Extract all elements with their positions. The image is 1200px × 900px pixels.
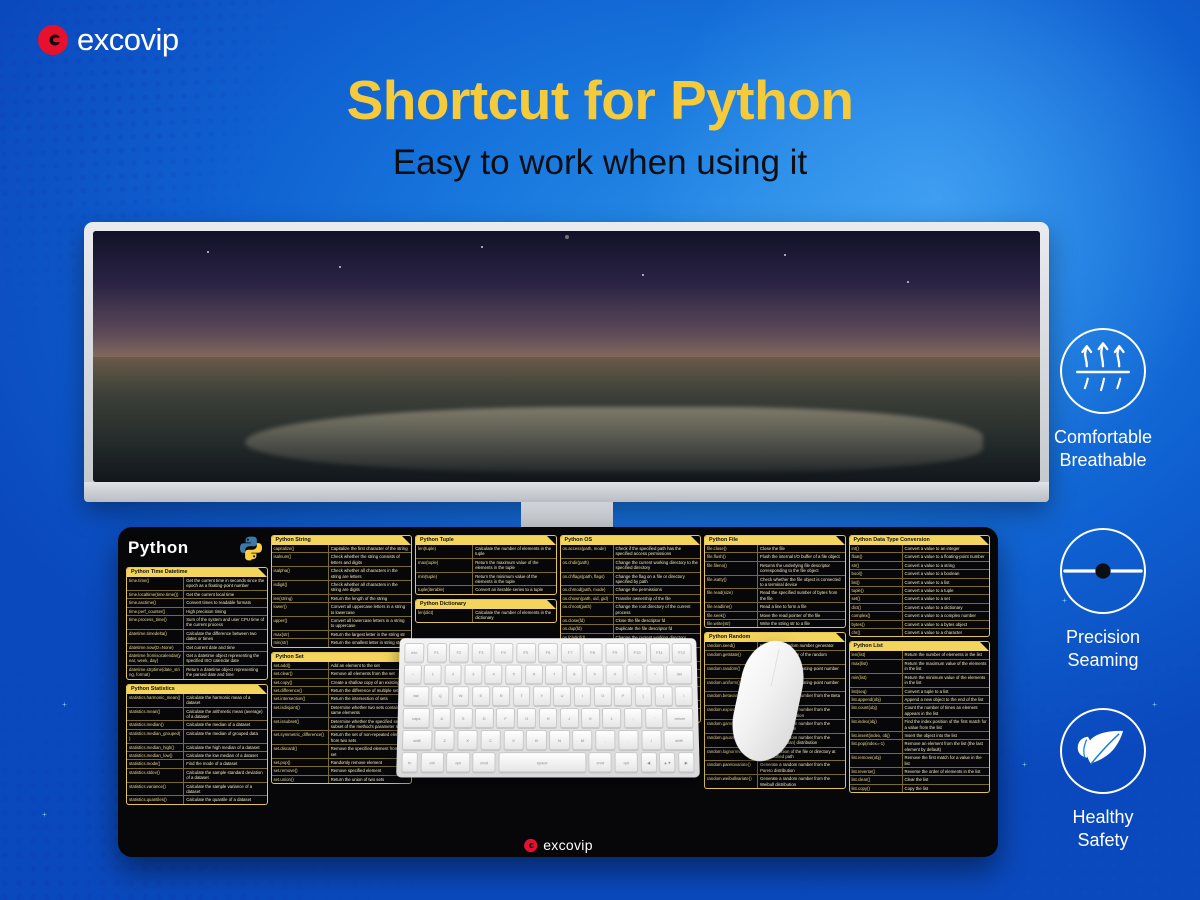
cheatsheet-row: statistics.stdev()Calculate the sample s… — [127, 768, 267, 782]
cheatsheet-row: max(list)Return the maximum value of the… — [850, 659, 990, 673]
cheatsheet-row: statistics.median()Calculate the median … — [127, 720, 267, 728]
cheatsheet-description: Generate a random number from the Weibul… — [758, 775, 844, 788]
cheatsheet-description: Convert an iterable series to a tuple — [473, 586, 555, 593]
cheatsheet-description: Append a new object to the end of the li… — [903, 696, 989, 703]
cheatsheet-row: dict()Convert a value to a dictionary — [850, 603, 990, 611]
keyboard-key[interactable]: F7 — [560, 643, 580, 662]
cheatsheet-row: isalpha()Check whether all characters in… — [272, 566, 412, 580]
keyboard-key[interactable]: . — [618, 730, 639, 750]
cheatsheet-row: set.difference()Return the difference of… — [272, 686, 412, 694]
cheatsheet-row: list()Convert a value to a list — [850, 578, 990, 586]
cheatsheet-row: time.perf_counter()High precision timing — [127, 607, 267, 615]
cheatsheet-description: Convert all lowercase letters in a strin… — [329, 617, 411, 630]
cheatsheet-row: statistics.median_low()Calculate the low… — [127, 751, 267, 759]
cheatsheet-row: file.close()Close the file — [705, 545, 845, 552]
cheatsheet-row: set.remove()Remove specified element — [272, 766, 412, 774]
cheatsheet-row: set.discard()Remove the specified elemen… — [272, 744, 412, 758]
mousepad-footer-logo: excovip — [523, 837, 593, 853]
feature-comfortable-breathable: Comfortable Breathable — [1018, 328, 1188, 472]
cheatsheet-description: Return the number of elements in the lis… — [903, 651, 989, 658]
keyboard-key[interactable]: F12 — [672, 643, 692, 662]
keyboard-key[interactable]: F2 — [449, 643, 469, 662]
keyboard-key[interactable]: caps — [402, 708, 430, 728]
cheatsheet-row: os.close(fd)Close the file descriptor fd — [561, 616, 701, 624]
cheatsheet-row: set()Convert a value to a set — [850, 594, 990, 602]
keyboard[interactable]: escF1F2F3F4F5F6F7F8F9F10F11F12~123456789… — [396, 638, 700, 777]
cheatsheet-row: min(list)Return the minimum value of the… — [850, 673, 990, 687]
keyboard-key[interactable]: 8 — [565, 665, 583, 684]
keyboard-key[interactable]: space — [498, 753, 586, 773]
keyboard-key[interactable]: 3 — [464, 665, 482, 684]
cheatsheet-description: Remove an element from the list (the las… — [903, 740, 989, 753]
cheatsheet-description: Duplicate the file descriptor fd — [614, 625, 700, 632]
keyboard-key[interactable]: opt — [446, 753, 470, 773]
keyboard-key[interactable]: ctrl — [420, 753, 444, 773]
keyboard-key[interactable]: D — [475, 708, 494, 728]
cheatsheet-row: os.chroot(path)Change the root directory… — [561, 602, 701, 616]
cheatsheet-description: Calculate the difference between two dat… — [184, 630, 266, 643]
keyboard-key[interactable]: B — [526, 730, 547, 750]
cheatsheet-function: statistics.variance() — [127, 783, 184, 796]
cheatsheet-function: datetime.timedelta() — [127, 630, 184, 643]
cheatsheet-row: time.asctime()Convert times to readable … — [127, 598, 267, 606]
cheatsheet-row: os.dup(fd)Duplicate the file descriptor … — [561, 624, 701, 632]
cheatsheet-column-1: Python Python Time Datetime time.time()G… — [126, 535, 268, 851]
cheatsheet-description: Find the index position of the first mat… — [903, 718, 989, 731]
cheatsheet-row: datetime.timedelta()Calculate the differ… — [127, 629, 267, 643]
brand-logo: excovip — [36, 22, 179, 58]
cheatsheet-description: Get a datetime object representing the s… — [184, 652, 266, 665]
monitor-image — [84, 222, 1049, 502]
feature-label: Healthy Safety — [1018, 806, 1188, 852]
cheatsheet-function: list.index(obj) — [850, 718, 903, 731]
cheatsheet-function: list.copy() — [850, 785, 903, 792]
section-python-set: Python Set set.add()Add an element to th… — [271, 652, 413, 785]
keyboard-key[interactable]: = — [646, 665, 664, 684]
cheatsheet-row: isdigit()Check whether all characters in… — [272, 580, 412, 594]
cheatsheet-row: os.chmod(path, mode)Change the permissio… — [561, 585, 701, 593]
cheatsheet-description: Generate a random number from the Pareto… — [758, 761, 844, 774]
section-python-list: Python List len(list)Return the number o… — [849, 641, 991, 793]
keyboard-key[interactable]: H — [539, 708, 558, 728]
cheatsheet-row: set.intersection()Return the intersectio… — [272, 694, 412, 702]
cheatsheet-description: Find the mode of a dataset — [184, 760, 266, 767]
section-python-string: Python String capitalize()Capitalize the… — [271, 535, 413, 648]
cheatsheet-function: time.time() — [127, 577, 184, 590]
keyboard-key[interactable]: 7 — [545, 665, 563, 684]
cheatsheet-description: Convert a value to a tuple — [903, 587, 989, 594]
section-rows: len(dict)Calculate the number of element… — [416, 609, 556, 622]
feature-label: Precision Seaming — [1018, 626, 1188, 672]
excovip-circle-mark-icon — [523, 838, 538, 853]
keyboard-key[interactable]: ' — [645, 708, 664, 728]
cheatsheet-row: capitalize()Capitalize the first charact… — [272, 545, 412, 552]
cheatsheet-row: statistics.mean()Calculate the arithmeti… — [127, 707, 267, 721]
cheatsheet-row: time.process_time()Sum of the system and… — [127, 615, 267, 629]
cheatsheet-description: Reverse the order of elements in the lis… — [903, 768, 989, 775]
cheatsheet-function: min(str) — [272, 639, 329, 646]
cheatsheet-row: set.copy()Create a shallow copy of an ex… — [272, 678, 412, 686]
cheatsheet-description: Calculate the quantile of a dataset — [184, 796, 266, 803]
page-subtitle: Easy to work when using it — [0, 143, 1200, 183]
cheatsheet-function: statistics.median_grouped() — [127, 730, 184, 743]
cheatsheet-row: lower()Convert all uppercase letters in … — [272, 602, 412, 616]
cheatsheet-function: len(dict) — [416, 609, 473, 622]
keyboard-key[interactable]: ◀ — [640, 753, 657, 773]
cheatsheet-description: Count the number of times an element app… — [903, 704, 989, 717]
cheatsheet-row: list(seq)Convert a tuple to a list — [850, 687, 990, 695]
cheatsheet-function: list.pop(index=-1) — [850, 740, 903, 753]
section-rows: set.add()Add an element to the setset.cl… — [272, 662, 412, 784]
cheatsheet-function: statistics.mean() — [127, 708, 184, 721]
section-rows: file.close()Close the filefile.flush()Fl… — [705, 545, 845, 627]
webcam-icon — [565, 235, 569, 239]
monitor-bezel — [84, 222, 1049, 502]
cheatsheet-description: Convert a value to a character — [903, 629, 989, 636]
mousepad-title-row: Python — [126, 535, 268, 563]
keyboard-key[interactable]: F1 — [426, 643, 446, 662]
cheatsheet-row: os.chdir(path)Change the current working… — [561, 558, 701, 572]
keyboard-key[interactable]: F8 — [583, 643, 603, 662]
keyboard-key[interactable]: G — [517, 708, 536, 728]
cheatsheet-function: random.paretovariate() — [705, 761, 758, 774]
cheatsheet-description: Check if the specified path has the spec… — [614, 545, 700, 558]
cheatsheet-description: Convert a value to a complex number — [903, 612, 989, 619]
keyboard-key[interactable]: cmd — [472, 753, 496, 773]
cheatsheet-function: set.difference() — [272, 687, 329, 694]
cheatsheet-row: random.paretovariate()Generate a random … — [705, 760, 845, 774]
cheatsheet-row: list.count(obj)Count the number of times… — [850, 703, 990, 717]
cheatsheet-row: file.flush()Flush the internal I/O buffe… — [705, 552, 845, 560]
keyboard-key[interactable]: T — [513, 686, 531, 705]
cheatsheet-description: Calculate the low median of a dataset — [184, 752, 266, 759]
section-title: Python String — [272, 536, 412, 545]
cheatsheet-function: min(tuple) — [416, 573, 473, 586]
cheatsheet-description: Return a datetime object representing th… — [184, 666, 266, 679]
cheatsheet-description: Calculate the median of a dataset — [184, 721, 266, 728]
cheatsheet-function: tuple() — [850, 587, 903, 594]
cheatsheet-row: bool()Convert a value to a boolean — [850, 569, 990, 577]
cheatsheet-description: Convert a value to a list — [903, 579, 989, 586]
cheatsheet-description: Calculate the median of grouped data — [184, 730, 266, 743]
keyboard-key[interactable]: K — [581, 708, 600, 728]
keyboard-key[interactable]: ] — [654, 686, 672, 705]
section-python-dictionary: Python Dictionary len(dict)Calculate the… — [415, 599, 557, 623]
cheatsheet-row: list.clear()Clear the list — [850, 775, 990, 783]
cheatsheet-function: os.chroot(path) — [561, 603, 614, 616]
cheatsheet-row: max(tuple)Return the maximum value of th… — [416, 558, 556, 572]
cheatsheet-function: statistics.stdev() — [127, 769, 184, 782]
cheatsheet-description: Check whether all characters in the stri… — [329, 581, 411, 594]
cheatsheet-row: isalnum()Check whether the string consis… — [272, 552, 412, 566]
cheatsheet-row: file.isatty()Check whether the file obje… — [705, 575, 845, 589]
keyboard-key[interactable]: F — [496, 708, 515, 728]
cheatsheet-row: set.isdisjoint()Determine whether two se… — [272, 703, 412, 717]
leaf-icon — [1060, 708, 1146, 794]
keyboard-key[interactable]: esc — [404, 643, 424, 662]
keyboard-key[interactable]: - — [626, 665, 644, 684]
keyboard-key[interactable]: J — [560, 708, 579, 728]
cheatsheet-description: Get the current time in seconds since th… — [184, 577, 266, 590]
cheatsheet-row: list.pop(index=-1)Remove an element from… — [850, 739, 990, 753]
keyboard-row: capsASDFGHJKL;'return — [402, 708, 693, 728]
cheatsheet-function: list.remove(obj) — [850, 754, 903, 767]
cheatsheet-function: os.chdir(path) — [561, 559, 614, 572]
keyboard-key[interactable]: 0 — [606, 665, 624, 684]
cheatsheet-description: Return the maximum value of the elements… — [473, 559, 555, 572]
cheatsheet-description: Copy the list — [903, 785, 989, 792]
section-title: Python Data Type Conversion — [850, 536, 990, 545]
cheatsheet-function: complex() — [850, 612, 903, 619]
section-title: Python File — [705, 536, 845, 545]
keyboard-key[interactable]: O — [594, 686, 612, 705]
cheatsheet-function: statistics.mode() — [127, 760, 184, 767]
cheatsheet-function: list() — [850, 579, 903, 586]
keyboard-key[interactable]: \ — [675, 686, 693, 705]
cheatsheet-description: Transfer ownership of the file — [614, 595, 700, 602]
keyboard-key[interactable]: tab — [403, 686, 429, 705]
keyboard-key[interactable]: F3 — [471, 643, 491, 662]
cheatsheet-row: set.symmetric_difference()Return the set… — [272, 730, 412, 744]
cheatsheet-row: file.write(str)Write the string str to a… — [705, 619, 845, 627]
cheatsheet-description: Change the root directory of the current… — [614, 603, 700, 616]
cheatsheet-description: Return the largest letter in the string … — [329, 631, 411, 638]
cheatsheet-row: datetime.fromisocalendar(year, week, day… — [127, 651, 267, 665]
keyboard-key[interactable]: 9 — [586, 665, 604, 684]
cheatsheet-description: Close the file descriptor fd — [614, 617, 700, 624]
cheatsheet-function: bytes() — [850, 621, 903, 628]
section-rows: capitalize()Capitalize the first charact… — [272, 545, 412, 647]
cheatsheet-row: chr()Convert a value to a character — [850, 628, 990, 636]
cheatsheet-row: file.readline()Read a line to form a fil… — [705, 602, 845, 610]
cheatsheet-function: max(tuple) — [416, 559, 473, 572]
cheatsheet-row: list.remove(obj)Remove the first match f… — [850, 753, 990, 767]
cheatsheet-description: Calculate the sample standard deviation … — [184, 769, 266, 782]
keyboard-key[interactable]: F9 — [605, 643, 625, 662]
cheatsheet-description: Change the flag on a file or directory s… — [614, 573, 700, 586]
keyboard-key[interactable]: S — [453, 708, 472, 728]
cheatsheet-description: Convert a value to a set — [903, 595, 989, 602]
monitor-screen — [93, 231, 1040, 482]
keyboard-key[interactable]: R — [492, 686, 510, 705]
cheatsheet-row: os.chflags(path, flags)Change the flag o… — [561, 572, 701, 586]
keyboard-key[interactable]: Y — [533, 686, 551, 705]
cheatsheet-function: datetime.strptime(date_string, format) — [127, 666, 184, 679]
section-title: Python OS — [561, 536, 701, 545]
cheatsheet-row: set.union()Return the union of two sets — [272, 775, 412, 783]
cheatsheet-function: statistics.median_high() — [127, 744, 184, 751]
cheatsheet-description: Calculate the harmonic mean of a dataset — [184, 694, 266, 707]
keyboard-key[interactable]: M — [572, 730, 593, 750]
keyboard-key[interactable]: cmd — [588, 753, 612, 773]
cheatsheet-row: len(string)Return the length of the stri… — [272, 594, 412, 602]
keyboard-key[interactable]: F5 — [516, 643, 536, 662]
keyboard-key[interactable]: [ — [634, 686, 652, 705]
cheatsheet-row: datetime.now(tz=None)Get current date an… — [127, 643, 267, 651]
cheatsheet-description: Capitalize the first character of the st… — [329, 545, 411, 552]
cheatsheet-function: tuple(iterable) — [416, 586, 473, 593]
cheatsheet-description: Get current date and time — [184, 644, 266, 651]
cheatsheet-description: Flush the internal I/O buffer of a file … — [758, 553, 844, 560]
cheatsheet-row: str()Convert a value to a string — [850, 561, 990, 569]
keyboard-key[interactable]: I — [573, 686, 591, 705]
cheatsheet-function: upper() — [272, 617, 329, 630]
keyboard-key[interactable]: F10 — [627, 643, 647, 662]
keyboard-key[interactable]: return — [666, 708, 694, 728]
cheatsheet-description: Calculate the sample variance of a datas… — [184, 783, 266, 796]
keyboard-key[interactable]: F4 — [493, 643, 513, 662]
section-python-tuple: Python Tuple len(tuple)Calculate the num… — [415, 535, 557, 595]
monitor-chin — [84, 482, 1049, 502]
keyboard-key[interactable]: ▲▼ — [659, 753, 676, 773]
cheatsheet-function: file.fileno() — [705, 562, 758, 575]
cheatsheet-function: len(string) — [272, 595, 329, 602]
cheatsheet-function: os.access(path, mode) — [561, 545, 614, 558]
cheatsheet-row: file.read(size)Read the specified number… — [705, 588, 845, 602]
keyboard-key[interactable]: del — [666, 665, 692, 684]
keyboard-key[interactable]: 2 — [444, 665, 462, 684]
cheatsheet-description: Read a line to form a file — [758, 603, 844, 610]
keyboard-key[interactable]: Z — [434, 730, 455, 750]
cheatsheet-function: statistics.median() — [127, 721, 184, 728]
cheatsheet-function: time.localtime(time.time()) — [127, 591, 184, 598]
cheatsheet-function: set.discard() — [272, 745, 329, 758]
cheatsheet-description: Calculate the number of elements in the … — [473, 609, 555, 622]
keyboard-key[interactable]: ; — [624, 708, 643, 728]
cheatsheet-function: os.chflags(path, flags) — [561, 573, 614, 586]
cheatsheet-function: set.isdisjoint() — [272, 704, 329, 717]
cheatsheet-row: min(str)Return the smallest letter in st… — [272, 638, 412, 646]
cheatsheet-function: list(seq) — [850, 688, 903, 695]
cheatsheet-row: bytes()Convert a value to a bytes object — [850, 620, 990, 628]
keyboard-key[interactable]: F11 — [649, 643, 669, 662]
cheatsheet-description: Check whether the string consists of let… — [329, 553, 411, 566]
cheatsheet-function: file.readline() — [705, 603, 758, 610]
cheatsheet-function: list.count(obj) — [850, 704, 903, 717]
cheatsheet-function: random.seed() — [705, 642, 758, 649]
cheatsheet-row: complex()Convert a value to a complex nu… — [850, 611, 990, 619]
cheatsheet-function: time.process_time() — [127, 616, 184, 629]
cheatsheet-function: set.union() — [272, 776, 329, 783]
cheatsheet-function: list.reverse() — [850, 768, 903, 775]
cheatsheet-function: set.clear() — [272, 670, 329, 677]
keyboard-key[interactable]: Q — [431, 686, 449, 705]
keyboard-key[interactable]: V — [503, 730, 524, 750]
cheatsheet-function: set.copy() — [272, 679, 329, 686]
cheatsheet-row: len(tuple)Calculate the number of elemen… — [416, 545, 556, 558]
cheatsheet-function: len(tuple) — [416, 545, 473, 558]
keyboard-key[interactable]: 1 — [424, 665, 442, 684]
feature-label: Comfortable Breathable — [1018, 426, 1188, 472]
cheatsheet-description: Return the maximum value of the elements… — [903, 660, 989, 673]
breathable-arrows-icon — [1060, 328, 1146, 414]
feature-precision-seaming: Precision Seaming — [1018, 528, 1188, 672]
keyboard-key[interactable]: ~ — [404, 665, 422, 684]
cheatsheet-row: set.issubset()Determine whether the spec… — [272, 717, 412, 731]
cheatsheet-function: time.asctime() — [127, 599, 184, 606]
keyboard-key[interactable]: , — [595, 730, 616, 750]
keyboard-key[interactable]: / — [641, 730, 662, 750]
cheatsheet-description: Convert all uppercase letters in a strin… — [329, 603, 411, 616]
cheatsheet-row: list.index(obj)Find the index position o… — [850, 717, 990, 731]
cheatsheet-description: Convert a value to a boolean — [903, 570, 989, 577]
keyboard-key[interactable]: E — [472, 686, 490, 705]
cheatsheet-description: High precision timing — [184, 608, 266, 615]
keyboard-key[interactable]: fn — [401, 753, 418, 773]
cheatsheet-description: Remove the first match for a value in th… — [903, 754, 989, 767]
cheatsheet-function: list.insert(index, obj) — [850, 732, 903, 739]
feature-label-line1: Precision — [1066, 627, 1140, 647]
cheatsheet-function: set.add() — [272, 662, 329, 669]
feature-label-line2: Breathable — [1059, 450, 1146, 470]
cheatsheet-row: len(dict)Calculate the number of element… — [416, 609, 556, 622]
section-python-file: Python File file.close()Close the filefi… — [704, 535, 846, 628]
cheatsheet-row: list.copy()Copy the list — [850, 784, 990, 792]
cheatsheet-description: Insert the object into the list — [903, 732, 989, 739]
brand-name: excovip — [77, 22, 179, 58]
keyboard-key[interactable]: U — [553, 686, 571, 705]
cheatsheet-row: tuple(iterable)Convert an iterable serie… — [416, 585, 556, 593]
keyboard-key[interactable]: 6 — [525, 665, 543, 684]
cheatsheet-function: str() — [850, 562, 903, 569]
cheatsheet-description: Change the current working directory to … — [614, 559, 700, 572]
cheatsheet-function: set() — [850, 595, 903, 602]
cheatsheet-row: upper()Convert all lowercase letters in … — [272, 616, 412, 630]
keyboard-key[interactable]: A — [432, 708, 451, 728]
cheatsheet-row: float()Convert a value to a floating-poi… — [850, 552, 990, 560]
cheatsheet-function: os.chown(path, uid, gid) — [561, 595, 614, 602]
keyboard-key[interactable]: shift — [664, 730, 694, 750]
cheatsheet-description: Check whether all characters in the stri… — [329, 567, 411, 580]
mousepad-brand-name: excovip — [543, 837, 593, 853]
keyboard-key[interactable]: P — [614, 686, 632, 705]
cheatsheet-description: Write the string str to a file — [758, 620, 844, 627]
cheatsheet-row: statistics.variance()Calculate the sampl… — [127, 782, 267, 796]
cheatsheet-function: random.weibullvariate() — [705, 775, 758, 788]
cheatsheet-function: set.pop() — [272, 759, 329, 766]
cheatsheet-row: random.weibullvariate()Generate a random… — [705, 774, 845, 788]
cheatsheet-row: file.fileno()Returns the underlying file… — [705, 561, 845, 575]
cheatsheet-row: statistics.harmonic_mean()Calculate the … — [127, 694, 267, 707]
screen-wallpaper-water — [245, 407, 984, 472]
cheatsheet-function: capitalize() — [272, 545, 329, 552]
keyboard-key[interactable]: X — [457, 730, 478, 750]
section-rows: len(list)Return the number of elements i… — [850, 651, 990, 792]
keyboard-key[interactable]: C — [480, 730, 501, 750]
keyboard-key[interactable]: ▶ — [678, 753, 695, 773]
keyboard-key[interactable]: F6 — [538, 643, 558, 662]
cheatsheet-row: time.time()Get the current time in secon… — [127, 577, 267, 590]
cheatsheet-function: os.dup(fd) — [561, 625, 614, 632]
cheatsheet-function: os.chmod(path, mode) — [561, 586, 614, 593]
keyboard-key[interactable]: opt — [614, 753, 638, 773]
keyboard-key[interactable]: 4 — [485, 665, 503, 684]
keyboard-key[interactable]: shift — [402, 730, 432, 750]
keyboard-key[interactable]: W — [452, 686, 470, 705]
cheatsheet-function: int() — [850, 545, 903, 552]
cheatsheet-function: file.seek() — [705, 612, 758, 619]
section-title: Python List — [850, 642, 990, 651]
cheatsheet-function: set.remove() — [272, 767, 329, 774]
cheatsheet-row: time.localtime(time.time())Get the curre… — [127, 590, 267, 598]
feature-label-line2: Safety — [1077, 830, 1128, 850]
section-python-time-datetime: Python Time Datetime time.time()Get the … — [126, 567, 268, 680]
keyboard-key[interactable]: N — [549, 730, 570, 750]
keyboard-key[interactable]: L — [602, 708, 621, 728]
cheatsheet-function: max(str) — [272, 631, 329, 638]
cheatsheet-row: int()Convert a value to an integer — [850, 545, 990, 552]
keyboard-key[interactable]: 5 — [505, 665, 523, 684]
